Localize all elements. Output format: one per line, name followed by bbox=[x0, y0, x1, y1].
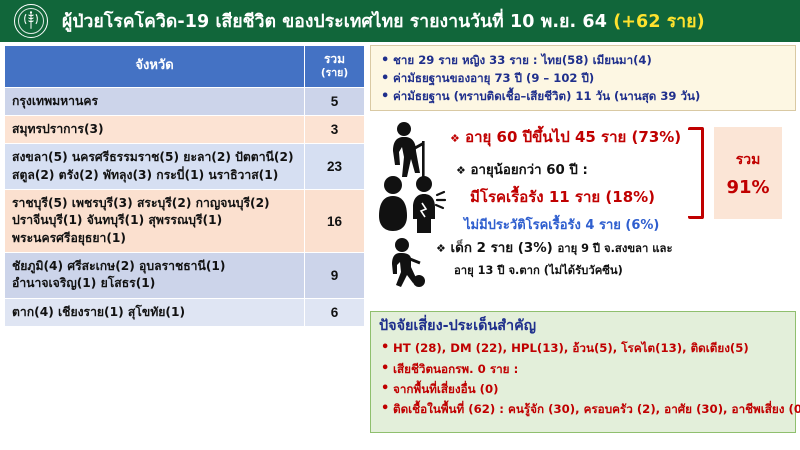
table-cell-total: 9 bbox=[305, 253, 365, 299]
age-over-60-text: อายุ 60 ปีขึ้นไป 45 ราย (73%) bbox=[465, 128, 681, 146]
province-table-container: จังหวัด รวม (ราย) กรุงเทพมหานคร 5 สมุทรป… bbox=[4, 45, 364, 327]
summary-value: 91% bbox=[726, 177, 769, 198]
summary-total-box: รวม 91% bbox=[714, 127, 782, 219]
children-line-second: อายุ 13 ปี จ.ตาก (ไม่ได้รับวัคซีน) bbox=[454, 263, 714, 279]
age-breakdown-panel: ❖ อายุ 60 ปีขึ้นไป 45 ราย (73%) ❖ อายุน้… bbox=[370, 115, 796, 311]
brace-bracket bbox=[688, 127, 704, 219]
table-cell-total: 5 bbox=[305, 87, 365, 115]
list-item: ค่ามัธยฐานของอายุ 73 ปี (9 – 102 ปี) bbox=[379, 70, 787, 88]
risk-factors-panel: ปัจจัยเสี่ยง-ประเด็นสำคัญ HT (28), DM (2… bbox=[370, 311, 796, 433]
table-cell-total: 6 bbox=[305, 298, 365, 326]
table-header-row: จังหวัด รวม (ราย) bbox=[5, 46, 365, 88]
table-row: ตาก(4) เชียงราย(1) สุโขทัย(1) 6 bbox=[5, 298, 365, 326]
page-title: ผู้ป่วยโรคโควิด-19 เสียชีวิต ของประเทศไท… bbox=[62, 7, 705, 35]
list-item: เสียชีวิตนอกรพ. 0 ราย : bbox=[379, 359, 787, 379]
table-row: สมุทรปราการ(3) 3 bbox=[5, 116, 365, 144]
column-header-total-unit: (ราย) bbox=[307, 67, 362, 80]
list-item: จากพื้นที่เสี่ยงอื่น (0) bbox=[379, 379, 787, 399]
children-line: ❖ เด็ก 2 ราย (3%) อายุ 9 ปี จ.สงขลา และ bbox=[436, 239, 686, 259]
summary-label: รวม bbox=[736, 149, 761, 171]
two-adults-obese-and-coughing-icon bbox=[376, 175, 448, 235]
diamond-bullet-icon: ❖ bbox=[436, 242, 446, 255]
table-cell-province: ราชบุรี(5) เพชรบุรี(3) สระบุรี(2) กาญจนบ… bbox=[5, 190, 305, 253]
chronic-disease-line: มีโรคเรื้อรัง 11 ราย (18%) bbox=[470, 185, 655, 209]
table-cell-province: สมุทรปราการ(3) bbox=[5, 116, 305, 144]
demographics-list: ชาย 29 ราย หญิง 33 ราย : ไทย(58) เมียนมา… bbox=[379, 52, 787, 106]
table-row: ราชบุรี(5) เพชรบุรี(3) สระบุรี(2) กาญจนบ… bbox=[5, 190, 365, 253]
province-death-table: จังหวัด รวม (ราย) กรุงเทพมหานคร 5 สมุทรป… bbox=[4, 45, 365, 327]
list-item: ติดเชื้อในพื้นที่ (62) : คนรู้จัก (30), … bbox=[379, 399, 787, 419]
table-cell-province: สงขลา(5) นครศรีธรรมราช(5) ยะลา(2) ปัตตาน… bbox=[5, 144, 305, 190]
diamond-bullet-icon: ❖ bbox=[450, 132, 460, 145]
table-cell-total: 23 bbox=[305, 144, 365, 190]
demographics-panel: ชาย 29 ราย หญิง 33 ราย : ไทย(58) เมียนมา… bbox=[370, 45, 796, 111]
children-detail-text: อายุ 9 ปี จ.สงขลา และ bbox=[557, 242, 672, 255]
list-item: HT (28), DM (22), HPL(13), อ้วน(5), โรคไ… bbox=[379, 338, 787, 358]
no-chronic-disease-line: ไม่มีประวัติโรคเรื้อรัง 4 ราย (6%) bbox=[464, 214, 659, 235]
risk-factors-title: ปัจจัยเสี่ยง-ประเด็นสำคัญ bbox=[379, 317, 787, 336]
table-row: กรุงเทพมหานคร 5 bbox=[5, 87, 365, 115]
age-under-60-line: ❖ อายุน้อยกว่า 60 ปี : bbox=[456, 159, 588, 180]
infographic-page: ผู้ป่วยโรคโควิด-19 เสียชีวิต ของประเทศไท… bbox=[0, 0, 800, 450]
table-cell-province: ชัยภูมิ(4) ศรีสะเกษ(2) อุบลราชธานี(1) อำ… bbox=[5, 253, 305, 299]
table-row: สงขลา(5) นครศรีธรรมราช(5) ยะลา(2) ปัตตาน… bbox=[5, 144, 365, 190]
table-cell-total: 16 bbox=[305, 190, 365, 253]
list-item: ค่ามัธยฐาน (ทราบติดเชื้อ–เสียชีวิต) 11 ว… bbox=[379, 88, 787, 106]
column-header-province: จังหวัด bbox=[5, 46, 305, 88]
table-cell-province: ตาก(4) เชียงราย(1) สุโขทัย(1) bbox=[5, 298, 305, 326]
list-item: ชาย 29 ราย หญิง 33 ราย : ไทย(58) เมียนมา… bbox=[379, 52, 787, 70]
elderly-person-with-cane-icon bbox=[382, 121, 436, 183]
column-header-total: รวม (ราย) bbox=[305, 46, 365, 88]
column-header-total-label: รวม bbox=[324, 52, 345, 66]
children-count-text: เด็ก 2 ราย (3%) bbox=[451, 241, 558, 256]
age-under-60-text: อายุน้อยกว่า 60 ปี : bbox=[471, 163, 588, 178]
right-column: ชาย 29 ราย หญิง 33 ราย : ไทย(58) เมียนมา… bbox=[370, 45, 796, 433]
ministry-of-public-health-logo-icon bbox=[14, 4, 48, 38]
age-over-60-line: ❖ อายุ 60 ปีขึ้นไป 45 ราย (73%) bbox=[450, 125, 681, 149]
child-playing-ball-icon bbox=[384, 237, 428, 289]
page-title-new-cases: (+62 ราย) bbox=[613, 12, 705, 32]
table-row: ชัยภูมิ(4) ศรีสะเกษ(2) อุบลราชธานี(1) อำ… bbox=[5, 253, 365, 299]
table-cell-province: กรุงเทพมหานคร bbox=[5, 87, 305, 115]
diamond-bullet-icon: ❖ bbox=[456, 164, 466, 177]
page-title-main: ผู้ป่วยโรคโควิด-19 เสียชีวิต ของประเทศไท… bbox=[62, 12, 607, 32]
page-header: ผู้ป่วยโรคโควิด-19 เสียชีวิต ของประเทศไท… bbox=[0, 0, 800, 42]
logo-container bbox=[0, 0, 62, 42]
table-cell-total: 3 bbox=[305, 116, 365, 144]
risk-factors-list: HT (28), DM (22), HPL(13), อ้วน(5), โรคไ… bbox=[379, 338, 787, 419]
